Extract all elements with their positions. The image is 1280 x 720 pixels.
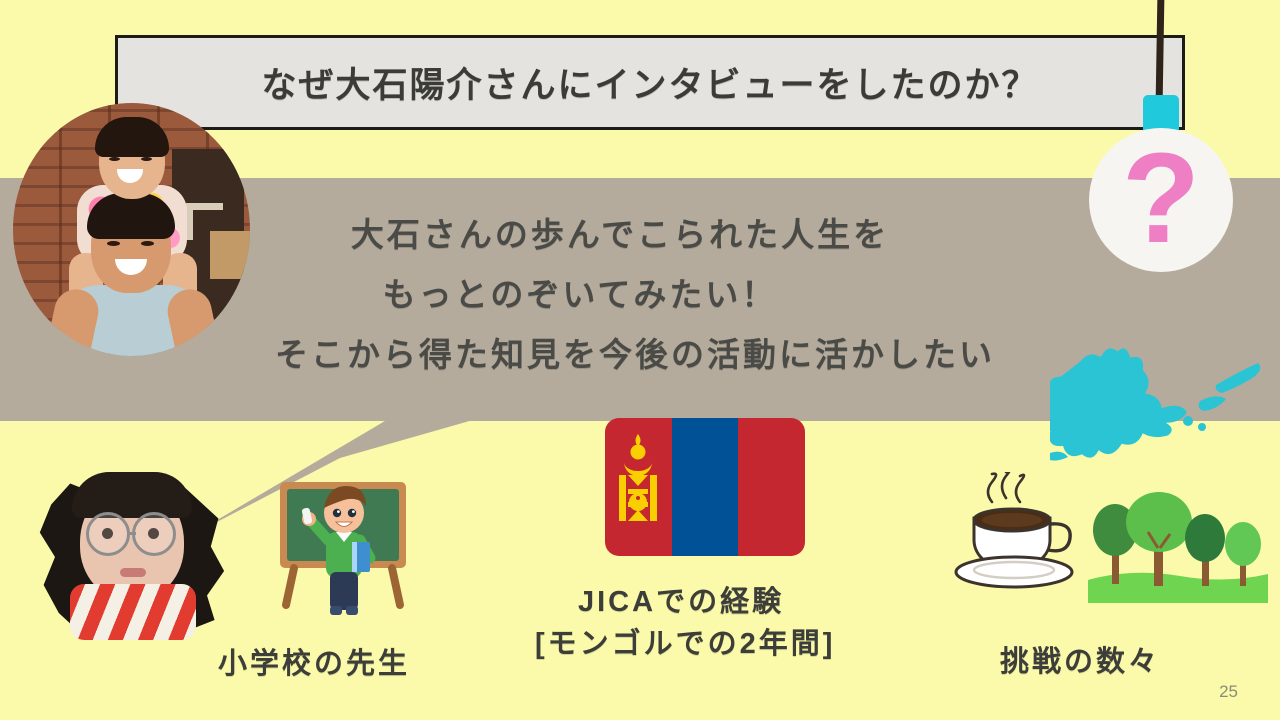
caption-challenges: 挑戦の数々	[1000, 638, 1160, 680]
mongolia-flag	[605, 418, 805, 556]
title-box: なぜ大石陽介さんにインタビューをしたのか？	[115, 35, 1185, 130]
svg-text:?: ?	[1122, 127, 1200, 270]
glasses-bridge	[128, 532, 136, 535]
page-number: 25	[1219, 682, 1238, 702]
coffee-cup	[948, 472, 1088, 597]
photo-wood-panel	[210, 231, 250, 279]
striped-scarf	[70, 584, 196, 640]
photo-man-with-child	[13, 103, 250, 356]
glasses-lens-right	[132, 512, 176, 556]
forest-trees	[1088, 488, 1268, 603]
interviewer-lips	[120, 568, 146, 577]
teacher-illustration	[258, 460, 428, 630]
man-eye-right	[141, 241, 154, 246]
child-eye-left	[109, 157, 120, 161]
caption-jica-line1: JICAでの経験	[578, 578, 784, 620]
child-eye-right	[141, 157, 152, 161]
page-title: なぜ大石陽介さんにインタビューをしたのか？	[261, 57, 1038, 108]
interviewer-hair	[72, 472, 192, 518]
caption-jica-line2: [モンゴルでの2年間]	[535, 620, 835, 662]
caption-teacher: 小学校の先生	[218, 640, 410, 682]
hokkaido-map	[1050, 345, 1275, 485]
photo-interviewer	[36, 466, 226, 641]
question-mark-ornament: ?	[1086, 0, 1236, 285]
glasses-lens-left	[86, 512, 130, 556]
man-eye-left	[107, 241, 120, 246]
man-hair	[87, 193, 175, 239]
